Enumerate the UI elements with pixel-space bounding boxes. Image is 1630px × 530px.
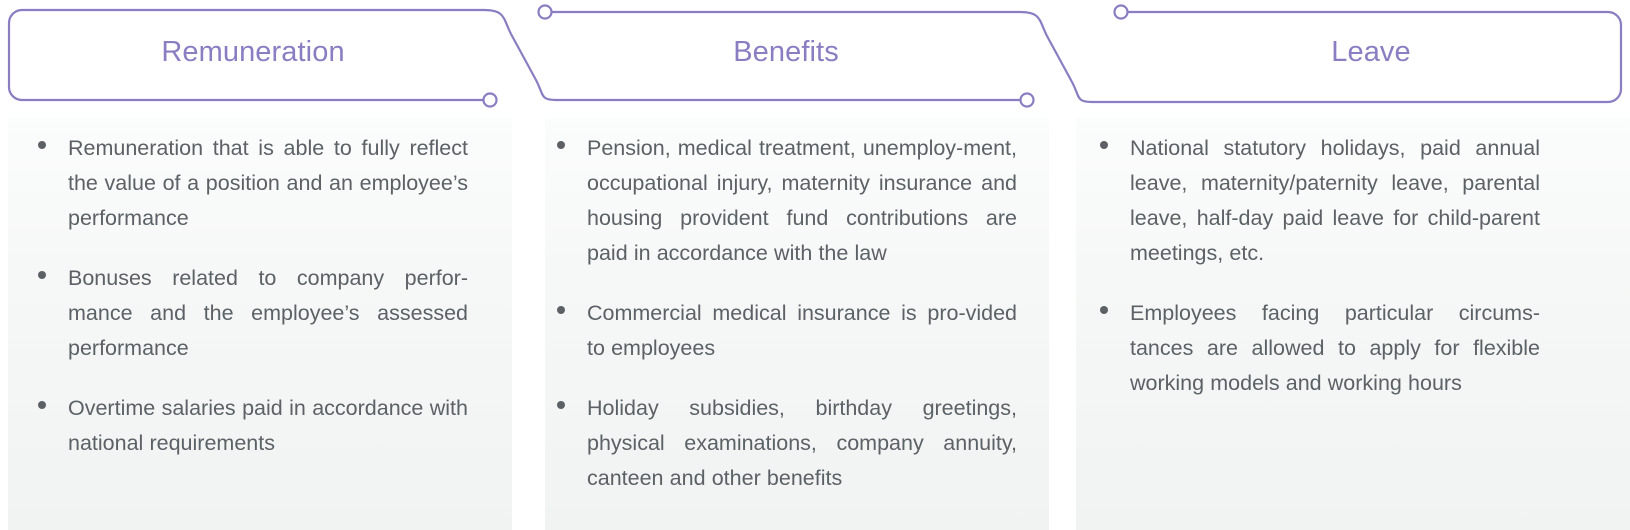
list-item: Commercial medical insurance is pro-vide… <box>557 296 1017 366</box>
bullet-list-benefits: Pension, medical treatment, unemploy-men… <box>557 131 1017 521</box>
card-title-leave: Leave <box>1120 30 1622 74</box>
card-title-benefits: Benefits <box>545 30 1027 74</box>
bullet-dot-icon <box>1100 131 1130 149</box>
bullet-list-leave: National statutory holidays, paid annual… <box>1100 131 1540 426</box>
bullet-dot-icon <box>557 391 587 409</box>
bullet-dot-icon <box>557 131 587 149</box>
list-item-text: Pension, medical treatment, unemploy-men… <box>587 131 1017 271</box>
list-item: Pension, medical treatment, unemploy-men… <box>557 131 1017 271</box>
list-item: Employees facing particular circums-tanc… <box>1100 296 1540 401</box>
list-item-text: National statutory holidays, paid annual… <box>1130 131 1540 271</box>
bullet-dot-icon <box>557 296 587 314</box>
bullet-dot-icon <box>1100 296 1130 314</box>
bullet-dot-icon <box>38 261 68 279</box>
list-item: Remuneration that is able to fully refle… <box>38 131 468 236</box>
list-item-text: Bonuses related to company perfor-mance … <box>68 261 468 366</box>
list-item: Bonuses related to company perfor-mance … <box>38 261 468 366</box>
list-item-text: Overtime salaries paid in accordance wit… <box>68 391 468 461</box>
bullet-dot-icon <box>38 391 68 409</box>
list-item-text: Holiday subsidies, birthday greetings, p… <box>587 391 1017 496</box>
three-card-infographic: Remuneration Benefits Leave Remuneration… <box>0 0 1630 530</box>
list-item: Overtime salaries paid in accordance wit… <box>38 391 468 461</box>
bullet-dot-icon <box>38 131 68 149</box>
list-item: National statutory holidays, paid annual… <box>1100 131 1540 271</box>
list-item: Holiday subsidies, birthday greetings, p… <box>557 391 1017 496</box>
list-item-text: Remuneration that is able to fully refle… <box>68 131 468 236</box>
list-item-text: Employees facing particular circums-tanc… <box>1130 296 1540 401</box>
list-item-text: Commercial medical insurance is pro-vide… <box>587 296 1017 366</box>
bullet-list-remuneration: Remuneration that is able to fully refle… <box>38 131 468 486</box>
card-title-remuneration: Remuneration <box>8 30 498 74</box>
